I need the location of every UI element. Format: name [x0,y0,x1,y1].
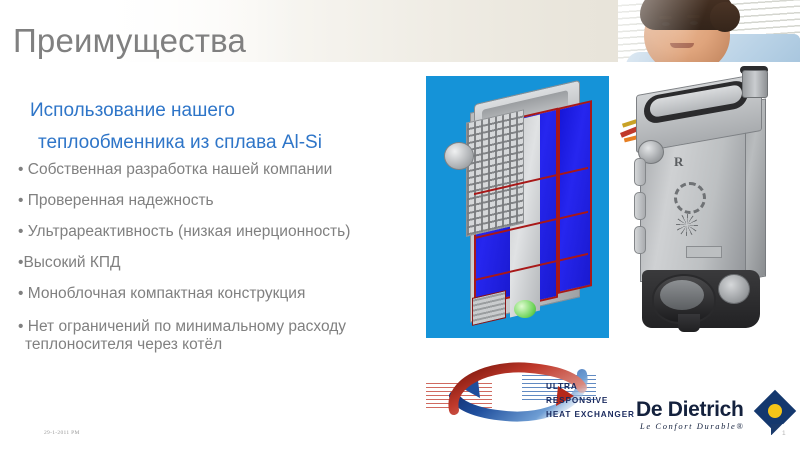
logo-line-2: HEAT EXCHANGER [546,408,638,422]
list-item-label-continuation: теплоносителя через котёл [18,336,438,354]
bullet-marker: • [18,318,23,335]
person-photo [618,0,800,62]
list-item: •Высокий КПД [18,256,438,270]
boiler-condensate-neck [678,314,700,332]
ultra-responsive-logo: ULTRA RESPONSIVE HEAT EXCHANGER [418,358,638,432]
photo-sheen-overlay [618,0,800,62]
presentation-slide: Преимущества Использование нашего теплоо… [0,0,800,450]
boiler-clip [634,158,646,186]
hx-mesh-grid [466,109,524,236]
list-item: • Нет ограничений по минимальному расход… [18,318,438,354]
list-item: • Собственная разработка нашей компании [18,163,438,177]
boiler-gear-marking [674,182,706,214]
hx-green-sensor [514,300,536,318]
boiler-burner-bowl-inner [660,280,704,310]
page-number: 1 [782,430,786,437]
heading-line-2: теплообменника из сплава Al-Si [30,127,430,159]
footer-date: 29-1-2011 PM [44,430,80,436]
list-item: • Ультрареактивность (низкая инерционнос… [18,225,438,239]
boiler-star-marking [676,214,698,236]
list-item: • Моноблочная компактная конструкция [18,287,438,301]
page-title: Преимущества [13,22,246,60]
bullet-marker: • [18,223,23,240]
logo-line-1: ULTRA RESPONSIVE [546,380,638,408]
heat-exchanger-image [426,76,609,338]
section-heading: Использование нашего теплообменника из с… [30,95,430,159]
boiler-embossed-logo: R [674,154,683,170]
diamond-center-dot-icon [768,404,782,418]
bullet-marker: • [18,285,23,302]
list-item-label: Высокий КПД [23,254,120,271]
heat-exchanger-assembly [444,94,590,322]
boiler-unit-image: R [618,62,788,352]
list-item-label: Собственная разработка нашей компании [28,161,333,178]
boiler-side-port [718,274,750,304]
list-item: • Проверенная надежность [18,194,438,208]
boiler-clip [634,226,646,254]
brand-name: De Dietrich [636,398,744,422]
list-item-label: Проверенная надежность [28,192,214,209]
hx-inlet-knob [444,142,474,170]
bullet-marker: • [18,161,23,178]
ultra-responsive-logo-text: ULTRA RESPONSIVE HEAT EXCHANGER [546,380,638,422]
boiler-label-plate [686,246,722,258]
bullet-marker: • [18,192,23,209]
bullet-list: • Собственная разработка нашей компании … [18,163,438,371]
list-item-label: Нет ограничений по минимальному расходу [28,318,346,335]
hx-fin-panel-right [558,100,592,294]
brand-tagline: Le Confort Durable® [640,421,744,431]
boiler-flue-outlet [742,70,768,98]
list-item-label: Моноблочная компактная конструкция [28,285,306,302]
heading-line-1: Использование нашего [30,100,235,121]
boiler-clip [634,192,646,220]
list-item-label: Ультрареактивность (низкая инерционность… [28,223,351,240]
